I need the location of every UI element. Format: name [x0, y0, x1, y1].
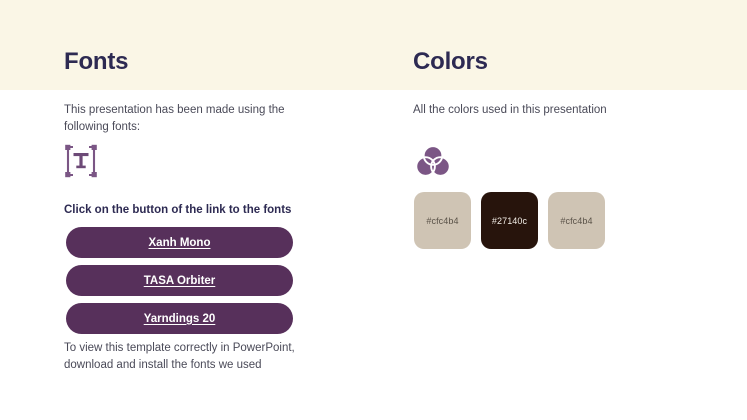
text-tool-icon — [64, 144, 98, 178]
fonts-buttons-heading: Click on the button of the link to the f… — [64, 203, 291, 218]
slide-root: Fonts This presentation has been made us… — [0, 0, 747, 420]
page-title-colors: Colors — [413, 50, 488, 74]
header-band — [0, 0, 747, 90]
fonts-intro-text: This presentation has been made using th… — [64, 102, 314, 135]
color-swatch[interactable]: #27140c — [481, 192, 538, 249]
font-link-button-tasa-orbiter[interactable]: TASA Orbiter — [66, 265, 293, 296]
colors-intro-text: All the colors used in this presentation — [413, 102, 693, 119]
page-title-fonts: Fonts — [64, 50, 128, 74]
color-swatch[interactable]: #cfc4b4 — [414, 192, 471, 249]
color-swatch-label: #cfc4b4 — [426, 216, 458, 226]
fonts-outro-text: To view this template correctly in Power… — [64, 340, 319, 373]
color-swatch-row: #cfc4b4 #27140c #cfc4b4 — [414, 192, 605, 249]
color-swatch-label: #27140c — [492, 216, 527, 226]
venn-circles-icon — [413, 141, 453, 181]
color-swatch[interactable]: #cfc4b4 — [548, 192, 605, 249]
font-link-button-yarndings-20[interactable]: Yarndings 20 — [66, 303, 293, 334]
color-swatch-label: #cfc4b4 — [560, 216, 592, 226]
font-link-button-xanh-mono[interactable]: Xanh Mono — [66, 227, 293, 258]
